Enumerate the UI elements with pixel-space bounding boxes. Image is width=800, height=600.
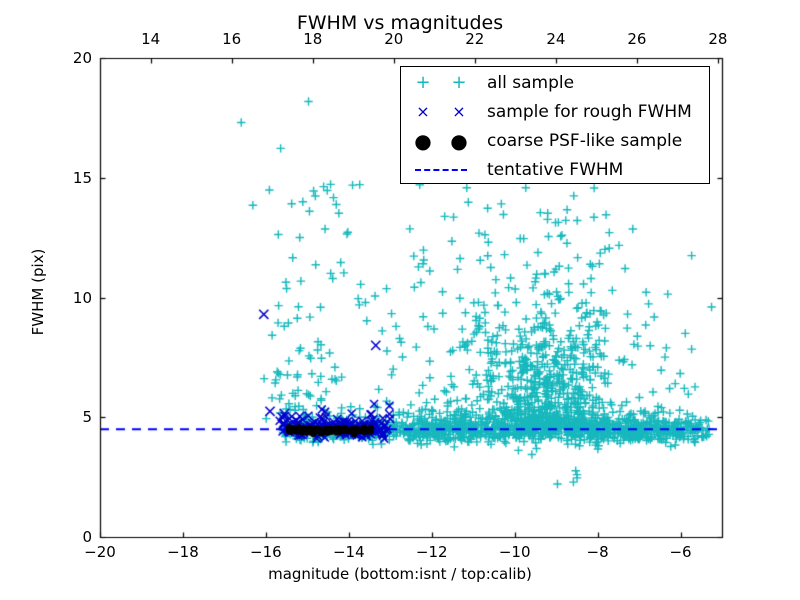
top-axis-tick-label: 20: [384, 30, 403, 48]
x-axis-tick-label: −12: [416, 543, 448, 561]
legend-marker-plus-icon: ++: [401, 68, 487, 97]
legend-item-label: sample for rough FWHM: [487, 102, 692, 122]
legend-dash-line: [415, 169, 467, 171]
legend-item-label: all sample: [487, 73, 574, 93]
legend-item: ++all sample: [401, 68, 711, 97]
y-axis-label: FWHM (pix): [29, 192, 47, 392]
x-axis-tick-label: −16: [250, 543, 282, 561]
y-axis-tick-label: 15: [73, 169, 92, 187]
legend-glyph: +: [415, 74, 430, 92]
top-axis-tick-label: 18: [303, 30, 322, 48]
x-axis-tick-label: −14: [333, 543, 365, 561]
top-axis-tick-label: 26: [627, 30, 646, 48]
x-axis-label: magnitude (bottom:isnt / top:calib): [0, 565, 800, 583]
y-axis-tick-label: 10: [73, 289, 92, 307]
legend-marker-dot-icon: ●●: [401, 126, 487, 155]
legend-glyph: ×: [416, 104, 429, 120]
x-axis-tick-label: −6: [669, 543, 691, 561]
legend-item: tentative FWHM: [401, 155, 711, 184]
legend-marker-dashed-line-icon: [401, 155, 487, 184]
y-axis-tick-label: 20: [73, 49, 92, 67]
legend-item: ●●coarse PSF-like sample: [401, 126, 711, 155]
legend-item-label: tentative FWHM: [487, 160, 623, 180]
figure-canvas-container: FWHM vs magnitudes magnitude (bottom:isn…: [0, 0, 800, 600]
legend-glyph: ●: [450, 131, 467, 151]
legend-item-label: coarse PSF-like sample: [487, 131, 682, 151]
x-axis-tick-label: −8: [587, 543, 609, 561]
x-axis-tick-label: −18: [167, 543, 199, 561]
legend-marker-cross-icon: ××: [401, 97, 487, 126]
y-axis-tick-label: 0: [82, 528, 92, 546]
legend-glyph: +: [451, 74, 466, 92]
top-axis-tick-label: 16: [222, 30, 241, 48]
legend-item: ××sample for rough FWHM: [401, 97, 711, 126]
legend: ++all sample××sample for rough FWHM●●coa…: [400, 66, 710, 184]
y-axis-tick-label: 5: [82, 408, 92, 426]
legend-glyph: ●: [414, 131, 431, 151]
x-axis-tick-label: −10: [499, 543, 531, 561]
top-axis-tick-label: 22: [465, 30, 484, 48]
top-axis-tick-label: 14: [141, 30, 160, 48]
legend-glyph: ×: [452, 104, 465, 120]
top-axis-tick-label: 28: [708, 30, 727, 48]
top-axis-tick-label: 24: [546, 30, 565, 48]
